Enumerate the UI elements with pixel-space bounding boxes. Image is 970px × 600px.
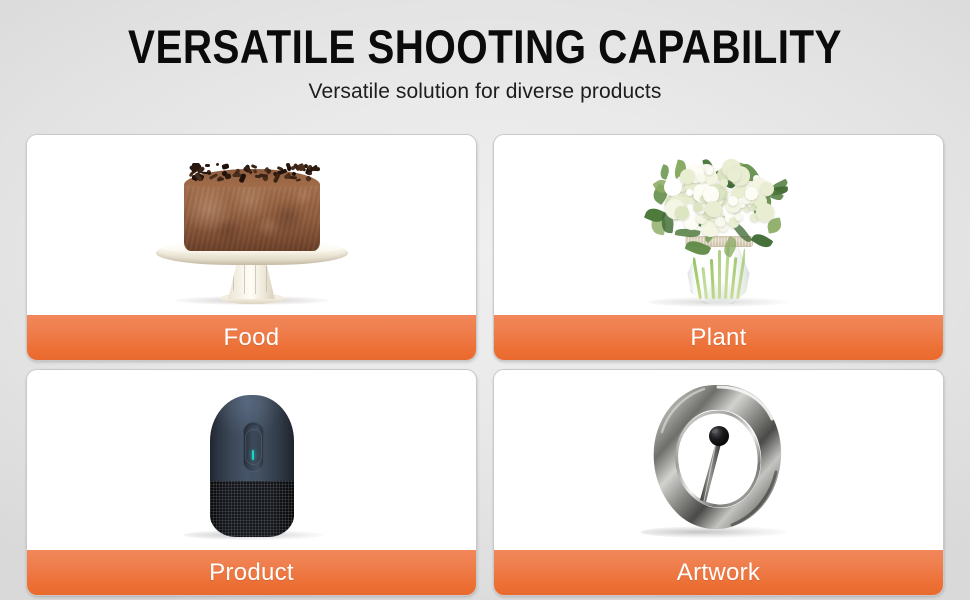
category-card-product[interactable]: Product — [26, 369, 477, 596]
card-media-product — [27, 370, 476, 550]
card-media-food — [27, 135, 476, 315]
category-card-grid: Food Plant — [26, 134, 944, 596]
card-label-text-plant: Plant — [690, 324, 746, 352]
category-card-food[interactable]: Food — [26, 134, 477, 361]
page-subtitle: Versatile solution for diverse products — [0, 80, 970, 104]
header: VERSATILE SHOOTING CAPABILITY Versatile … — [0, 0, 970, 104]
category-card-plant[interactable]: Plant — [493, 134, 944, 361]
card-label-text-product: Product — [209, 559, 294, 587]
chocolate-cake-on-pedestal-stand-photo-icon — [122, 139, 382, 311]
card-label-text-artwork: Artwork — [677, 559, 760, 587]
chrome-torus-sculpture-photo-icon — [589, 374, 849, 546]
card-media-artwork — [494, 370, 943, 550]
category-card-artwork[interactable]: Artwork — [493, 369, 944, 596]
card-label-artwork: Artwork — [494, 550, 943, 595]
card-label-product: Product — [27, 550, 476, 595]
bluetooth-speaker-photo-icon — [122, 374, 382, 546]
page-title: VERSATILE SHOOTING CAPABILITY — [68, 22, 902, 71]
card-label-plant: Plant — [494, 315, 943, 360]
white-hydrangea-bouquet-in-glass-vase-photo-icon — [589, 139, 849, 311]
card-media-plant — [494, 135, 943, 315]
card-label-food: Food — [27, 315, 476, 360]
card-label-text-food: Food — [224, 324, 280, 352]
promo-banner: VERSATILE SHOOTING CAPABILITY Versatile … — [0, 0, 970, 600]
